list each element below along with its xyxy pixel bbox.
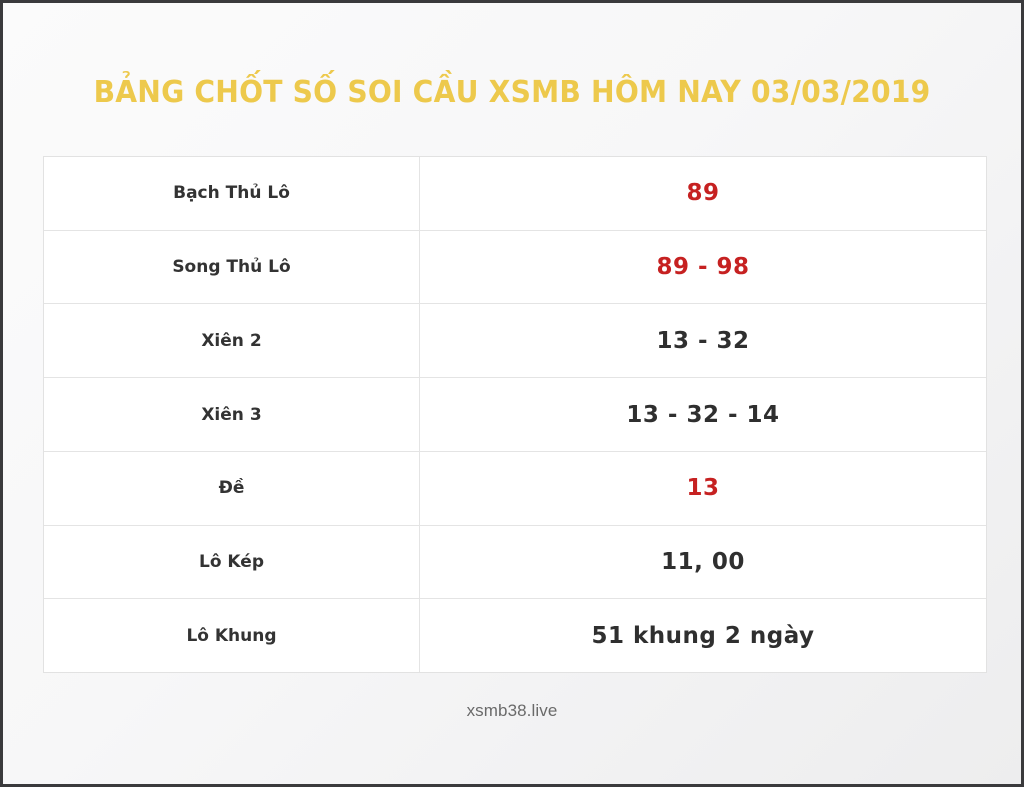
page-frame: BẢNG CHỐT SỐ SOI CẦU XSMB HÔM NAY 03/03/… bbox=[0, 0, 1024, 787]
row-value: 13 - 32 - 14 bbox=[420, 378, 986, 451]
page-title: BẢNG CHỐT SỐ SOI CẦU XSMB HÔM NAY 03/03/… bbox=[34, 75, 991, 110]
prediction-table: Bạch Thủ Lô89Song Thủ Lô89 - 98Xiên 213 … bbox=[43, 156, 987, 673]
row-value: 89 bbox=[420, 157, 986, 230]
table-row: Đề13 bbox=[44, 452, 986, 526]
table-row: Xiên 213 - 32 bbox=[44, 304, 986, 378]
row-value: 89 - 98 bbox=[420, 231, 986, 304]
row-label: Bạch Thủ Lô bbox=[44, 157, 420, 230]
table-row: Song Thủ Lô89 - 98 bbox=[44, 231, 986, 305]
row-label: Lô Kép bbox=[44, 526, 420, 599]
site-footer: xsmb38.live bbox=[3, 701, 1021, 721]
row-value: 13 - 32 bbox=[420, 304, 986, 377]
table-row: Lô Kép11, 00 bbox=[44, 526, 986, 600]
table-row: Bạch Thủ Lô89 bbox=[44, 157, 986, 231]
table-row: Lô Khung51 khung 2 ngày bbox=[44, 599, 986, 672]
row-label: Song Thủ Lô bbox=[44, 231, 420, 304]
row-value: 13 bbox=[420, 452, 986, 525]
site-watermark: xsmb38.live bbox=[467, 701, 558, 720]
row-label: Xiên 2 bbox=[44, 304, 420, 377]
row-label: Đề bbox=[44, 452, 420, 525]
row-value: 51 khung 2 ngày bbox=[420, 599, 986, 672]
row-value: 11, 00 bbox=[420, 526, 986, 599]
row-label: Xiên 3 bbox=[44, 378, 420, 451]
row-label: Lô Khung bbox=[44, 599, 420, 672]
title-bar: BẢNG CHỐT SỐ SOI CẦU XSMB HÔM NAY 03/03/… bbox=[3, 75, 1021, 110]
table-row: Xiên 313 - 32 - 14 bbox=[44, 378, 986, 452]
